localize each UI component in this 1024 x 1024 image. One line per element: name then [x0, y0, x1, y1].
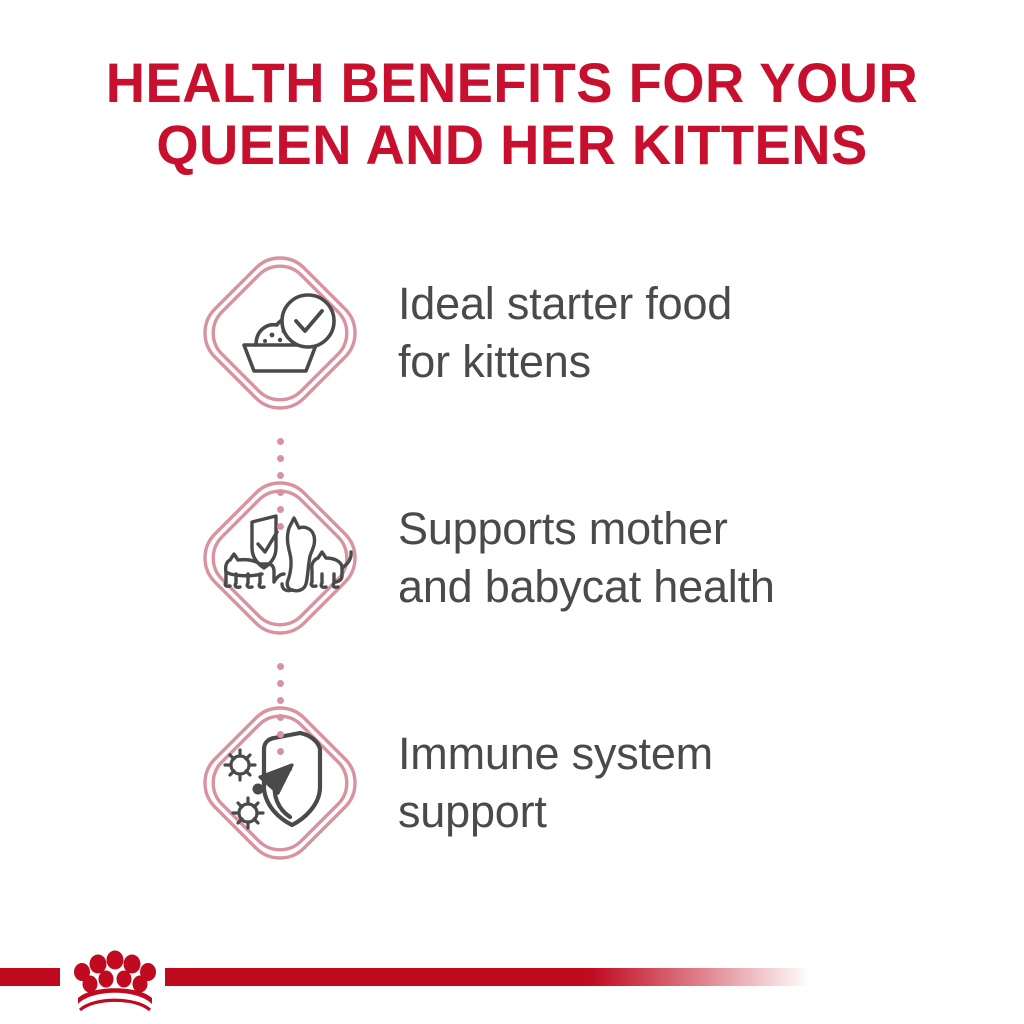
connector-dot: [277, 663, 284, 670]
connector-dots: [274, 438, 286, 530]
royal-canin-crown-logo: [60, 942, 170, 1012]
benefit-row: Immune system support: [0, 690, 1024, 876]
benefit-label-line-2: support: [398, 786, 547, 837]
benefit-label: Supports mother and babycat health: [398, 500, 918, 616]
benefit-row: Ideal starter food for kittens: [0, 240, 1024, 426]
connector-dot: [277, 506, 284, 513]
benefit-label-line-1: Ideal starter food: [398, 278, 732, 329]
connector-dots: [274, 663, 286, 755]
connector-dot: [277, 748, 284, 755]
benefit-label-line-2: and babycat health: [398, 561, 775, 612]
connector-dot: [277, 489, 284, 496]
benefit-icon-container: [180, 240, 380, 426]
benefits-list: Ideal starter food for kittens: [0, 240, 1024, 876]
footer-bar-left-segment: [0, 968, 60, 986]
connector-dot: [277, 714, 284, 721]
connector-dot: [277, 523, 284, 530]
connector-dot: [277, 438, 284, 445]
benefit-label-line-2: for kittens: [398, 336, 591, 387]
food-bowl-check-icon: [192, 245, 368, 421]
benefit-row: Supports mother and babycat health: [0, 465, 1024, 651]
benefit-label-line-1: Supports mother: [398, 503, 728, 554]
connector-dot: [277, 697, 284, 704]
footer: [0, 920, 1024, 1024]
connector-dot: [277, 455, 284, 462]
health-benefits-infographic: HEALTH BENEFITS FOR YOUR QUEEN AND HER K…: [0, 0, 1024, 1024]
title-line-1: HEALTH BENEFITS FOR YOUR: [15, 52, 1008, 114]
connector-dot: [277, 472, 284, 479]
benefit-label-line-1: Immune system: [398, 728, 713, 779]
benefit-label: Immune system support: [398, 725, 918, 841]
connector-dot: [277, 680, 284, 687]
connector-dot: [277, 731, 284, 738]
footer-bar-right-segment: [165, 968, 810, 986]
title-line-2: QUEEN AND HER KITTENS: [15, 114, 1008, 176]
benefit-label: Ideal starter food for kittens: [398, 275, 918, 391]
page-title: HEALTH BENEFITS FOR YOUR QUEEN AND HER K…: [0, 52, 1024, 176]
